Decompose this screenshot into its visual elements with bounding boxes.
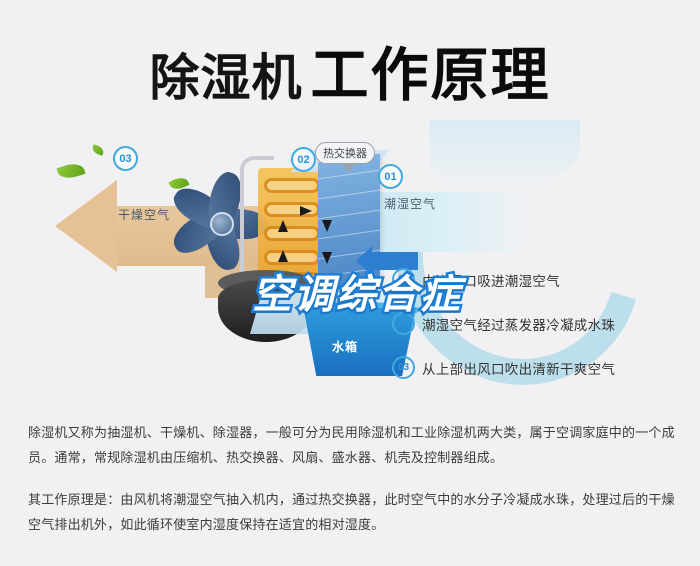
dry-air-arrow-head	[55, 180, 117, 272]
coil-pipe	[264, 178, 320, 193]
step-text: 从上部出风口吹出清新干爽空气	[422, 358, 615, 378]
diagram-badge-01: 01	[378, 164, 403, 189]
evaporator-fin	[318, 210, 380, 220]
step-number: 03	[392, 356, 415, 379]
description-paragraph-2: 其工作原理是：由风机将潮湿空气抽入机内，通过热交换器，此时空气中的水分子冷凝成水…	[28, 487, 678, 537]
leaf-icon	[91, 144, 105, 156]
flow-arrow-up-icon	[278, 250, 288, 262]
dry-air-label: 干燥空气	[118, 206, 170, 223]
diagram-badge-02: 02	[291, 147, 316, 172]
page-title-part2: 工作原理	[310, 41, 550, 109]
fan-hub	[210, 212, 234, 236]
step-item: 03 从上部出风口吹出清新干爽空气	[392, 356, 692, 379]
humid-air-label: 潮湿空气	[384, 195, 436, 212]
watermark-overlay: 空调综合症	[252, 262, 462, 320]
page-root: 除湿机工作原理	[0, 0, 700, 566]
diagram-badge-03: 03	[113, 146, 138, 171]
description-paragraph-1: 除湿机又称为抽湿机、干燥机、除湿器，一般可分为民用除湿机和工业除湿机两大类，属于…	[28, 420, 678, 470]
water-tank-label: 水箱	[332, 338, 358, 355]
coil-pipe	[264, 226, 320, 241]
flow-arrow-right-icon	[300, 206, 312, 216]
flow-arrow-down-icon	[322, 220, 332, 232]
flow-arrow-up-icon	[278, 220, 288, 232]
evaporator-fin	[318, 190, 380, 200]
page-title: 除湿机工作原理	[0, 28, 700, 112]
heat-exchanger-callout: 热交换器	[315, 142, 375, 164]
page-title-part1: 除湿机	[149, 49, 302, 107]
